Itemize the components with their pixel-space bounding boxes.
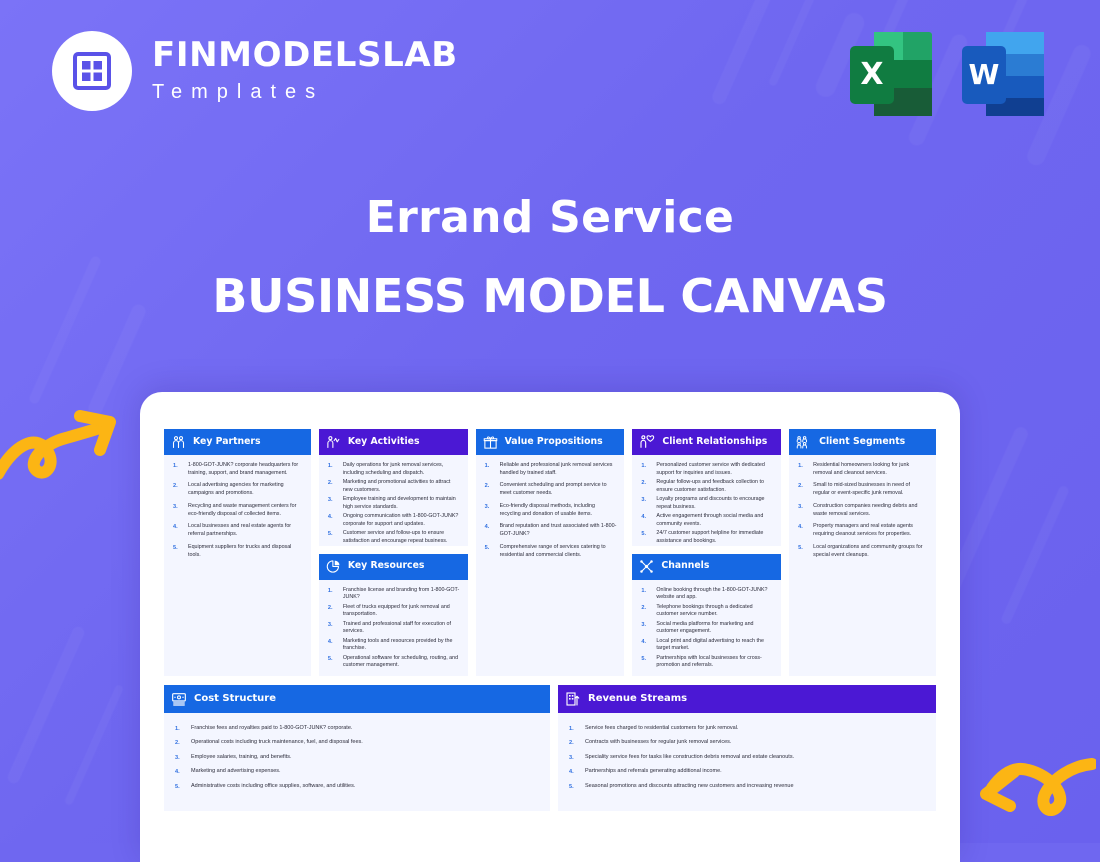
list-item: Franchise fees and royalties paid to 1-8… — [173, 725, 540, 733]
canvas-block-client-relationships[interactable]: Client Relationships Personalized custom… — [632, 429, 781, 546]
page-subtitle: Errand Service — [0, 192, 1100, 243]
list-item: Customer service and follow-ups to ensur… — [326, 530, 460, 545]
block-title: Key Partners — [193, 437, 261, 447]
list-item: Operational software for scheduling, rou… — [326, 655, 460, 670]
svg-text:X: X — [860, 57, 883, 92]
list-item: Partnerships with local businesses for c… — [639, 655, 773, 670]
format-badges: X W — [846, 28, 1048, 125]
business-model-canvas-sheet: Key Partners 1-800-GOT-JUNK? corporate h… — [140, 392, 960, 862]
list-item: Regular follow-ups and feedback collecti… — [639, 479, 773, 494]
block-header-key-activities: Key Activities — [319, 429, 468, 455]
page-title-group: Errand Service BUSINESS MODEL CANVAS — [0, 192, 1100, 323]
list-item: Comprehensive range of services catering… — [483, 544, 617, 559]
canvas-block-channels[interactable]: Channels Online booking through the 1-80… — [632, 554, 781, 676]
block-title: Key Resources — [348, 561, 425, 571]
list-item: Marketing tools and resources provided b… — [326, 638, 460, 653]
excel-icon: X — [846, 28, 936, 125]
block-header-cost-structure: Cost Structure — [164, 685, 550, 713]
canvas-block-revenue-streams[interactable]: Revenue Streams Service fees charged to … — [558, 685, 936, 811]
person-activity-icon — [326, 435, 341, 450]
list-item: Reliable and professional junk removal s… — [483, 462, 617, 477]
list-item: Recycling and waste management centers f… — [171, 503, 303, 518]
block-header-channels: Channels — [632, 554, 781, 580]
list-item: Personalized customer service with dedic… — [639, 462, 773, 477]
list-item: Franchise license and branding from 1-80… — [326, 587, 460, 602]
grid-square-icon — [52, 31, 132, 111]
block-title: Key Activities — [348, 437, 420, 447]
canvas-column-value-propositions: Value Propositions Reliable and professi… — [476, 429, 625, 676]
list-item: Telephone bookings through a dedicated c… — [639, 604, 773, 619]
canvas-block-value-propositions[interactable]: Value Propositions Reliable and professi… — [476, 429, 625, 676]
block-title: Cost Structure — [194, 693, 276, 704]
block-items-key-resources: Franchise license and branding from 1-80… — [319, 580, 468, 676]
list-item: Employee training and development to mai… — [326, 496, 460, 511]
block-header-key-resources: Key Resources — [319, 554, 468, 580]
block-header-key-partners: Key Partners — [164, 429, 311, 455]
block-items-key-activities: Daily operations for junk removal servic… — [319, 455, 468, 546]
canvas-block-cost-structure[interactable]: Cost Structure Franchise fees and royalt… — [164, 685, 550, 811]
money-bill-icon — [171, 691, 187, 707]
block-header-revenue-streams: Revenue Streams — [558, 685, 936, 713]
list-item: Seasonal promotions and discounts attrac… — [567, 783, 926, 791]
block-title: Value Propositions — [505, 437, 603, 447]
people-group-icon — [796, 435, 812, 450]
canvas-column-client-relationships: Client Relationships Personalized custom… — [632, 429, 781, 676]
word-icon: W — [958, 28, 1048, 125]
list-item: Service fees charged to residential cust… — [567, 725, 926, 733]
block-items-key-partners: 1-800-GOT-JUNK? corporate headquarters f… — [164, 455, 311, 571]
list-item: Eco-friendly disposal methods, including… — [483, 503, 617, 518]
block-title: Revenue Streams — [588, 693, 687, 704]
canvas-block-client-segments[interactable]: Client Segments Residential homeowners l… — [789, 429, 936, 676]
block-header-value-propositions: Value Propositions — [476, 429, 625, 455]
canvas-block-key-partners[interactable]: Key Partners 1-800-GOT-JUNK? corporate h… — [164, 429, 311, 676]
list-item: Local organizations and community groups… — [796, 544, 928, 559]
brand-logo: FINMODELSLAB Templates — [52, 31, 458, 111]
list-item: Loyalty programs and discounts to encour… — [639, 496, 773, 511]
list-item: Local businesses and real estate agents … — [171, 523, 303, 538]
squiggle-arrow-down-left-icon — [964, 744, 1096, 841]
block-items-channels: Online booking through the 1-800-GOT-JUN… — [632, 580, 781, 676]
list-item: Convenient scheduling and prompt service… — [483, 482, 617, 497]
page-title: BUSINESS MODEL CANVAS — [0, 269, 1100, 323]
list-item: Property managers and real estate agents… — [796, 523, 928, 538]
block-title: Client Relationships — [662, 437, 767, 447]
canvas-top-row: Key Partners 1-800-GOT-JUNK? corporate h… — [164, 429, 936, 676]
list-item: Contracts with businesses for regular ju… — [567, 739, 926, 747]
brand-subtitle: Templates — [152, 81, 458, 104]
block-header-client-segments: Client Segments — [789, 429, 936, 455]
block-items-value-propositions: Reliable and professional junk removal s… — [476, 455, 625, 571]
canvas-block-key-activities[interactable]: Key Activities Daily operations for junk… — [319, 429, 468, 546]
list-item: Administrative costs including office su… — [173, 783, 540, 791]
svg-text:W: W — [969, 58, 1000, 91]
block-header-client-relationships: Client Relationships — [632, 429, 781, 455]
block-items-cost-structure: Franchise fees and royalties paid to 1-8… — [164, 713, 550, 805]
page-header: FINMODELSLAB Templates X W — [0, 0, 1100, 150]
list-item: 1-800-GOT-JUNK? corporate headquarters f… — [171, 462, 303, 477]
network-nodes-icon — [639, 559, 654, 574]
list-item: Equipment suppliers for trucks and dispo… — [171, 544, 303, 559]
list-item: Trained and professional staff for execu… — [326, 621, 460, 636]
block-items-client-segments: Residential homeowners looking for junk … — [789, 455, 936, 571]
person-heart-icon — [639, 434, 655, 450]
list-item: Brand reputation and trust associated wi… — [483, 523, 617, 538]
block-items-client-relationships: Personalized customer service with dedic… — [632, 455, 781, 546]
block-title: Client Segments — [819, 437, 905, 447]
list-item: Marketing and promotional activities to … — [326, 479, 460, 494]
canvas-column-client-segments: Client Segments Residential homeowners l… — [789, 429, 936, 676]
list-item: Operational costs including truck mainte… — [173, 739, 540, 747]
squiggle-arrow-up-right-icon — [0, 404, 124, 495]
pie-chart-icon — [326, 559, 341, 574]
canvas-column-key-activities: Key Activities Daily operations for junk… — [319, 429, 468, 676]
gift-icon — [483, 435, 498, 450]
list-item: Construction companies needing debris an… — [796, 503, 928, 518]
list-item: Partnerships and referrals generating ad… — [567, 768, 926, 776]
list-item: Marketing and advertising expenses. — [173, 768, 540, 776]
brand-name: FINMODELSLAB — [152, 38, 458, 72]
block-items-revenue-streams: Service fees charged to residential cust… — [558, 713, 936, 805]
list-item: Fleet of trucks equipped for junk remova… — [326, 604, 460, 619]
list-item: Local print and digital advertising to r… — [639, 638, 773, 653]
list-item: Speciality service fees for tasks like c… — [567, 754, 926, 762]
canvas-bottom-row: Cost Structure Franchise fees and royalt… — [164, 685, 936, 811]
list-item: Employee salaries, training, and benefit… — [173, 754, 540, 762]
list-item: Active engagement through social media a… — [639, 513, 773, 528]
list-item: Small to mid-sized businesses in need of… — [796, 482, 928, 497]
canvas-column-key-partners: Key Partners 1-800-GOT-JUNK? corporate h… — [164, 429, 311, 676]
block-title: Channels — [661, 561, 709, 571]
list-item: Online booking through the 1-800-GOT-JUN… — [639, 587, 773, 602]
two-people-icon — [171, 435, 186, 450]
list-item: Social media platforms for marketing and… — [639, 621, 773, 636]
list-item: 24/7 customer support helpline for immed… — [639, 530, 773, 545]
list-item: Local advertising agencies for marketing… — [171, 482, 303, 497]
building-arrow-icon — [565, 691, 581, 707]
list-item: Residential homeowners looking for junk … — [796, 462, 928, 477]
list-item: Daily operations for junk removal servic… — [326, 462, 460, 477]
list-item: Ongoing communication with 1-800-GOT-JUN… — [326, 513, 460, 528]
canvas-block-key-resources[interactable]: Key Resources Franchise license and bran… — [319, 554, 468, 676]
